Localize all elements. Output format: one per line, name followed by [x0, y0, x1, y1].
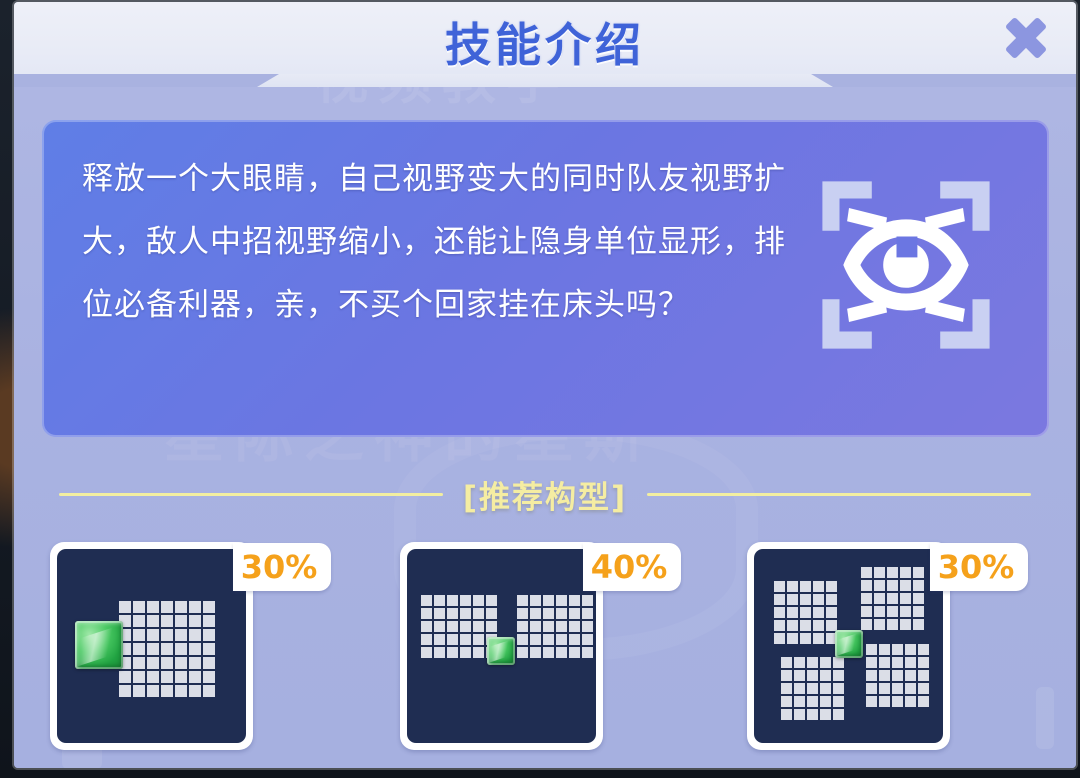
formation-preview-0 [57, 549, 246, 743]
grid-cell [913, 593, 924, 604]
grid-cell [813, 594, 824, 605]
grid-cell [826, 594, 837, 605]
grid-cell [147, 615, 159, 627]
grid-cell [434, 608, 445, 619]
grid-cell [874, 619, 885, 630]
formation-percent-value: 30% [938, 548, 1015, 586]
grid-cell [918, 670, 929, 681]
grid-cell [892, 670, 903, 681]
grid-cell [900, 593, 911, 604]
close-x-icon [998, 10, 1054, 66]
grid-cell [175, 671, 187, 683]
grid-cell [175, 657, 187, 669]
grid-cell [813, 620, 824, 631]
grid-cell [861, 619, 872, 630]
section-divider: [推荐构型] [14, 472, 1076, 516]
grid-cell [866, 683, 877, 694]
grid-cell [582, 595, 593, 606]
grid-cell [133, 615, 145, 627]
grid-cell [913, 619, 924, 630]
grid-cell [447, 634, 458, 645]
grid-cell [905, 696, 916, 707]
grid-cell [794, 657, 805, 668]
grid-cell [794, 670, 805, 681]
grid-cell [189, 615, 201, 627]
grid-cell [203, 615, 215, 627]
grid-cell [874, 593, 885, 604]
grid-cell [918, 696, 929, 707]
skill-description-panel: 释放一个大眼睛，自己视野变大的同时队友视野扩大，敌人中招视野缩小，还能让隐身单位… [42, 120, 1049, 437]
grid-cell [460, 634, 471, 645]
formation-percent-value: 30% [241, 548, 318, 586]
grid-cell [582, 621, 593, 632]
grid-cell [861, 580, 872, 591]
grid-cell [175, 615, 187, 627]
grid-cell [447, 647, 458, 658]
grid-cell [582, 608, 593, 619]
grid-cell [189, 657, 201, 669]
grid-cell [781, 683, 792, 694]
grid-cell [879, 683, 890, 694]
grid-cell [543, 595, 554, 606]
grid-cell [918, 683, 929, 694]
header-center-tab [257, 74, 833, 87]
grid-cell [530, 634, 541, 645]
grid-cell [918, 657, 929, 668]
grid-cell [161, 601, 173, 613]
grid-cell [913, 580, 924, 591]
skill-icon [811, 170, 1001, 360]
grid-cell [905, 670, 916, 681]
watermark-line-1: 视频教学 [314, 87, 570, 114]
grid-cell [486, 608, 497, 619]
grid-cell [133, 685, 145, 697]
grid-cell [774, 620, 785, 631]
grid-cell [918, 644, 929, 655]
grid-cell [473, 634, 484, 645]
grid-cell [161, 685, 173, 697]
grid-cell [582, 647, 593, 658]
grid-cell [517, 634, 528, 645]
grid-cell [787, 620, 798, 631]
grid-cell [133, 671, 145, 683]
grid-cell [569, 595, 580, 606]
grid-cell [421, 608, 432, 619]
formation-percent-badge: 30% [233, 543, 331, 591]
grid-cell [879, 657, 890, 668]
formation-gem [75, 621, 123, 669]
grid-cell [887, 593, 898, 604]
grid-cell [879, 696, 890, 707]
grid-cell [892, 644, 903, 655]
grid-cell [460, 621, 471, 632]
grid-cell [161, 671, 173, 683]
grid-cell [517, 647, 528, 658]
grid-cell [887, 567, 898, 578]
dialog-body: 视频教学 星际之神的星斯 星之音 之刃 释放一个大眼睛，自己视野变大的同时队友视… [14, 87, 1076, 768]
grid-cell [913, 606, 924, 617]
grid-cell [833, 696, 844, 707]
formation-gem [835, 630, 863, 658]
grid-cell [133, 643, 145, 655]
grid-cell [447, 608, 458, 619]
grid-cell [774, 633, 785, 644]
formation-gem [487, 637, 515, 665]
grid-cell [147, 601, 159, 613]
grid-cell [887, 580, 898, 591]
grid-cell [892, 683, 903, 694]
grid-cell [543, 608, 554, 619]
grid-cell [826, 620, 837, 631]
grid-cell [119, 601, 131, 613]
grid-cell [861, 567, 872, 578]
grid-cell [781, 696, 792, 707]
grid-cell [543, 647, 554, 658]
grid-cell [569, 634, 580, 645]
grid-cell [569, 608, 580, 619]
grid-cell [787, 633, 798, 644]
grid-cell [874, 567, 885, 578]
grid-cell [175, 685, 187, 697]
grid-cell [460, 608, 471, 619]
grid-cell [556, 621, 567, 632]
grid-cell [517, 621, 528, 632]
grid-cell [175, 601, 187, 613]
formation-percent-badge: 30% [930, 543, 1028, 591]
grid-cell [833, 670, 844, 681]
grid-cell [147, 685, 159, 697]
grid-cell [421, 621, 432, 632]
grid-cell [460, 647, 471, 658]
section-title: [推荐构型] [463, 472, 627, 517]
grid-cell [874, 580, 885, 591]
grid-cell [473, 595, 484, 606]
grid-cell [866, 696, 877, 707]
grid-cell [530, 595, 541, 606]
grid-cell [800, 594, 811, 605]
grid-cell [892, 696, 903, 707]
grid-cell [517, 608, 528, 619]
grid-cell [787, 581, 798, 592]
grid-cell [826, 581, 837, 592]
formation-preview-2 [754, 549, 943, 743]
formation-percent-value: 40% [591, 548, 668, 586]
grid-cell [543, 621, 554, 632]
grid-cell [800, 633, 811, 644]
grid-cell [774, 607, 785, 618]
grid-cell [905, 683, 916, 694]
grid-cell [161, 629, 173, 641]
grid-cell [486, 621, 497, 632]
grid-cell [189, 629, 201, 641]
grid-cell [787, 594, 798, 605]
grid-cell [530, 647, 541, 658]
grid-cell [530, 621, 541, 632]
grid-cell [879, 670, 890, 681]
grid-cell [781, 709, 792, 720]
formation-card-list: 30% 40% 30% [14, 542, 1076, 762]
grid-cell [119, 685, 131, 697]
grid-cell [820, 670, 831, 681]
grid-cell [189, 685, 201, 697]
grid-cell [161, 657, 173, 669]
formation-card[interactable]: 40% [400, 542, 603, 750]
grid-cell [833, 709, 844, 720]
grid-cell [874, 606, 885, 617]
formation-preview-1 [407, 549, 596, 743]
grid-cell [434, 634, 445, 645]
grid-cell [421, 595, 432, 606]
grid-cell [133, 629, 145, 641]
page-title: 技能介绍 [14, 9, 1076, 75]
grid-cell [787, 607, 798, 618]
skill-description-text: 释放一个大眼睛，自己视野变大的同时队友视野扩大，敌人中招视野缩小，还能让隐身单位… [82, 148, 802, 337]
grid-cell [861, 606, 872, 617]
grid-cell [813, 607, 824, 618]
grid-cell [861, 593, 872, 604]
grid-cell [807, 696, 818, 707]
grid-cell [434, 595, 445, 606]
grid-cell [189, 643, 201, 655]
grid-cell [175, 643, 187, 655]
grid-cell [119, 671, 131, 683]
grid-cell [807, 709, 818, 720]
grid-cell [781, 657, 792, 668]
grid-cell [421, 634, 432, 645]
grid-cell [887, 619, 898, 630]
grid-cell [447, 621, 458, 632]
grid-cell [833, 657, 844, 668]
grid-cell [582, 634, 593, 645]
grid-cell [203, 629, 215, 641]
grid-cell [473, 647, 484, 658]
grid-cell [900, 567, 911, 578]
grid-cell [556, 647, 567, 658]
grid-cell [203, 671, 215, 683]
grid-cell [556, 595, 567, 606]
grid-cell [905, 657, 916, 668]
grid-cell [905, 644, 916, 655]
divider-line-right [647, 493, 1031, 496]
close-button[interactable] [998, 10, 1054, 66]
grid-cell [826, 607, 837, 618]
grid-cell [460, 595, 471, 606]
grid-cell [866, 657, 877, 668]
grid-cell [800, 581, 811, 592]
grid-cell [133, 657, 145, 669]
grid-cell [147, 643, 159, 655]
grid-cell [879, 644, 890, 655]
skill-intro-dialog: 技能介绍 视频教学 星际之神的星斯 星之音 之刃 [14, 2, 1076, 768]
grid-cell [556, 608, 567, 619]
grid-cell [781, 670, 792, 681]
grid-cell [813, 633, 824, 644]
grid-cell [774, 594, 785, 605]
grid-cell [517, 595, 528, 606]
grid-cell [147, 671, 159, 683]
grid-cell [807, 657, 818, 668]
grid-cell [866, 670, 877, 681]
grid-cell [161, 643, 173, 655]
grid-cell [203, 657, 215, 669]
grid-cell [133, 601, 145, 613]
grid-cell [147, 629, 159, 641]
grid-cell [887, 606, 898, 617]
formation-card[interactable]: 30% [747, 542, 950, 750]
grid-cell [147, 657, 159, 669]
grid-cell [175, 629, 187, 641]
grid-cell [774, 581, 785, 592]
grid-cell [807, 683, 818, 694]
grid-cell [794, 709, 805, 720]
grid-cell [203, 643, 215, 655]
grid-cell [203, 685, 215, 697]
grid-cell [569, 621, 580, 632]
grid-cell [800, 620, 811, 631]
grid-cell [486, 595, 497, 606]
grid-cell [569, 647, 580, 658]
grid-cell [203, 601, 215, 613]
grid-cell [833, 683, 844, 694]
grid-cell [900, 580, 911, 591]
screen: 技能介绍 视频教学 星际之神的星斯 星之音 之刃 [0, 0, 1080, 778]
grid-cell [913, 567, 924, 578]
grid-cell [473, 608, 484, 619]
grid-cell [530, 608, 541, 619]
grid-cell [794, 683, 805, 694]
grid-cell [189, 601, 201, 613]
grid-cell [807, 670, 818, 681]
grid-cell [900, 606, 911, 617]
grid-cell [434, 647, 445, 658]
grid-cell [813, 581, 824, 592]
grid-cell [820, 657, 831, 668]
eye-scan-icon [811, 170, 1001, 360]
divider-line-left [59, 493, 443, 496]
grid-cell [189, 671, 201, 683]
grid-cell [434, 621, 445, 632]
grid-cell [892, 657, 903, 668]
grid-cell [900, 619, 911, 630]
grid-cell [447, 595, 458, 606]
grid-cell [473, 621, 484, 632]
grid-cell [820, 696, 831, 707]
grid-cell [794, 696, 805, 707]
grid-cell [820, 683, 831, 694]
grid-cell [820, 709, 831, 720]
grid-cell [866, 644, 877, 655]
grid-cell [556, 634, 567, 645]
formation-card[interactable]: 30% [50, 542, 253, 750]
grid-cell [543, 634, 554, 645]
grid-cell [421, 647, 432, 658]
formation-percent-badge: 40% [583, 543, 681, 591]
grid-cell [800, 607, 811, 618]
grid-cell [161, 615, 173, 627]
